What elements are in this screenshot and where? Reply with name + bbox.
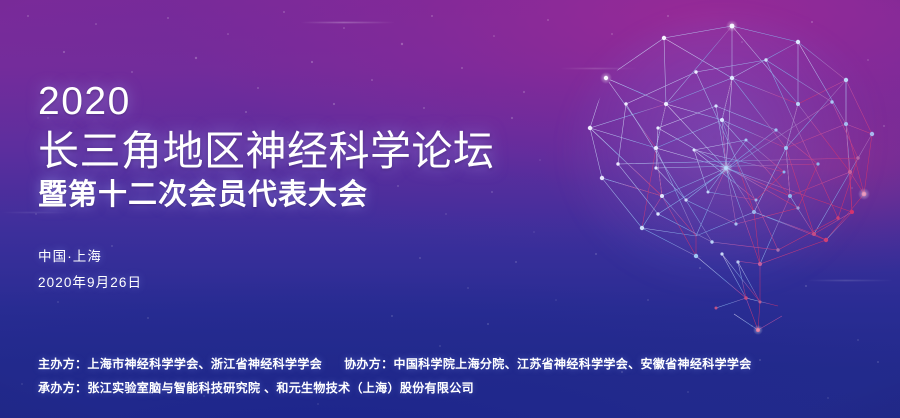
host-orgs: 上海市神经科学学会、浙江省神经科学学会 — [87, 357, 322, 371]
event-year: 2020 — [38, 82, 495, 121]
page-title: 长三角地区神经科学论坛 — [38, 129, 495, 173]
footer-row-hosts: 主办方：上海市神经科学学会、浙江省神经科学学会协办方：中国科学院上海分院、江苏省… — [38, 358, 752, 371]
cohost-orgs: 中国科学院上海分院、江苏省神经科学学会、安徽省神经科学学会 — [393, 357, 751, 371]
conference-poster: 2020 长三角地区神经科学论坛 暨第十二次会员代表大会 中国·上海 2020年… — [0, 0, 900, 418]
cohost-label: 协办方： — [344, 357, 393, 371]
headline-block: 2020 长三角地区神经科学论坛 暨第十二次会员代表大会 — [38, 82, 495, 212]
organizer-orgs: 张江实验室脑与智能科技研究院 、和元生物技术（上海）股份有限公司 — [87, 381, 474, 395]
page-subtitle: 暨第十二次会员代表大会 — [38, 180, 495, 212]
organizer-label: 承办方： — [38, 381, 87, 395]
organizer-footer: 主办方：上海市神经科学学会、浙江省神经科学学会协办方：中国科学院上海分院、江苏省… — [38, 358, 752, 395]
footer-row-organizers: 承办方：张江实验室脑与智能科技研究院 、和元生物技术（上海）股份有限公司 — [38, 382, 752, 395]
event-location: 中国·上海 — [38, 250, 142, 264]
event-date: 2020年9月26日 — [38, 276, 142, 290]
event-meta-block: 中国·上海 2020年9月26日 — [38, 250, 142, 290]
host-label: 主办方： — [38, 357, 87, 371]
